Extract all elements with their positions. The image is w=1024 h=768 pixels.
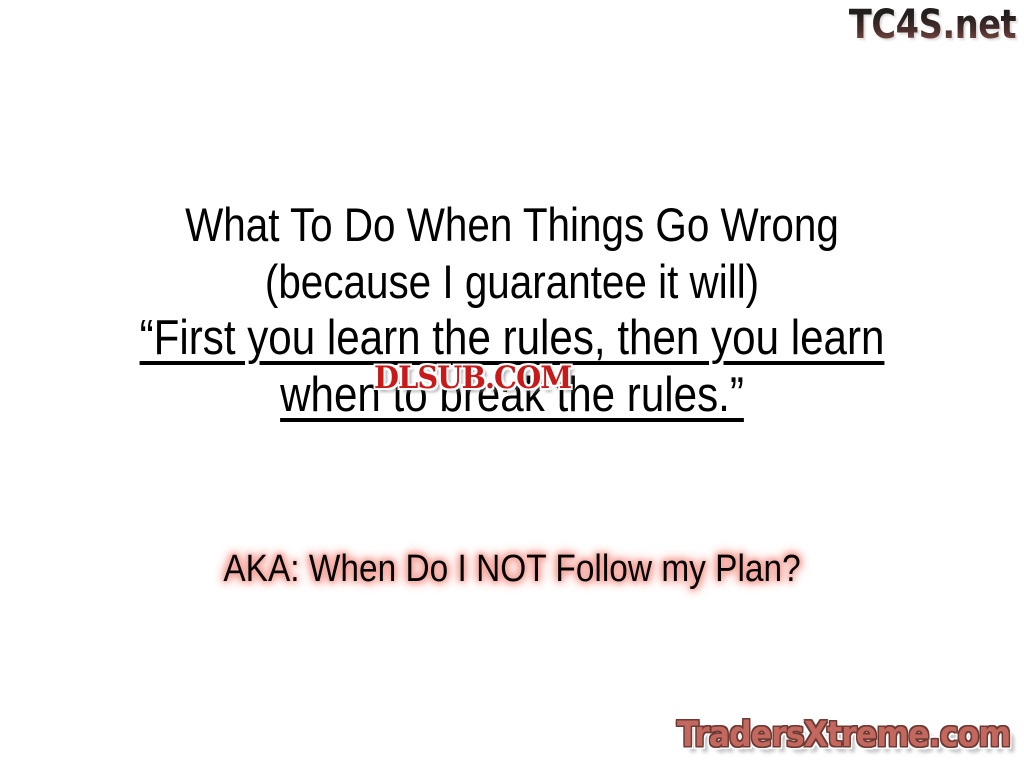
aka-subtitle: AKA: When Do I NOT Follow my Plan?: [223, 545, 800, 593]
tradersxtreme-logo: TradersXtreme.com: [677, 714, 1010, 756]
quote-line-1: “First you learn the rules, then you lea…: [72, 310, 953, 367]
dlsub-watermark: DLSUB.COM: [374, 361, 571, 395]
subtitle-row: AKA: When Do I NOT Follow my Plan?: [0, 545, 1024, 593]
slide-canvas: TC4S.net TC4S.net What To Do When Things…: [0, 0, 1024, 768]
quote-line-1-text: “First you learn the rules, then you lea…: [140, 311, 885, 365]
title-line-1: What To Do When Things Go Wrong: [72, 196, 953, 253]
title-line-2: (because I guarantee it will): [72, 253, 953, 310]
tc4s-logo: TC4S.net: [849, 2, 1016, 48]
